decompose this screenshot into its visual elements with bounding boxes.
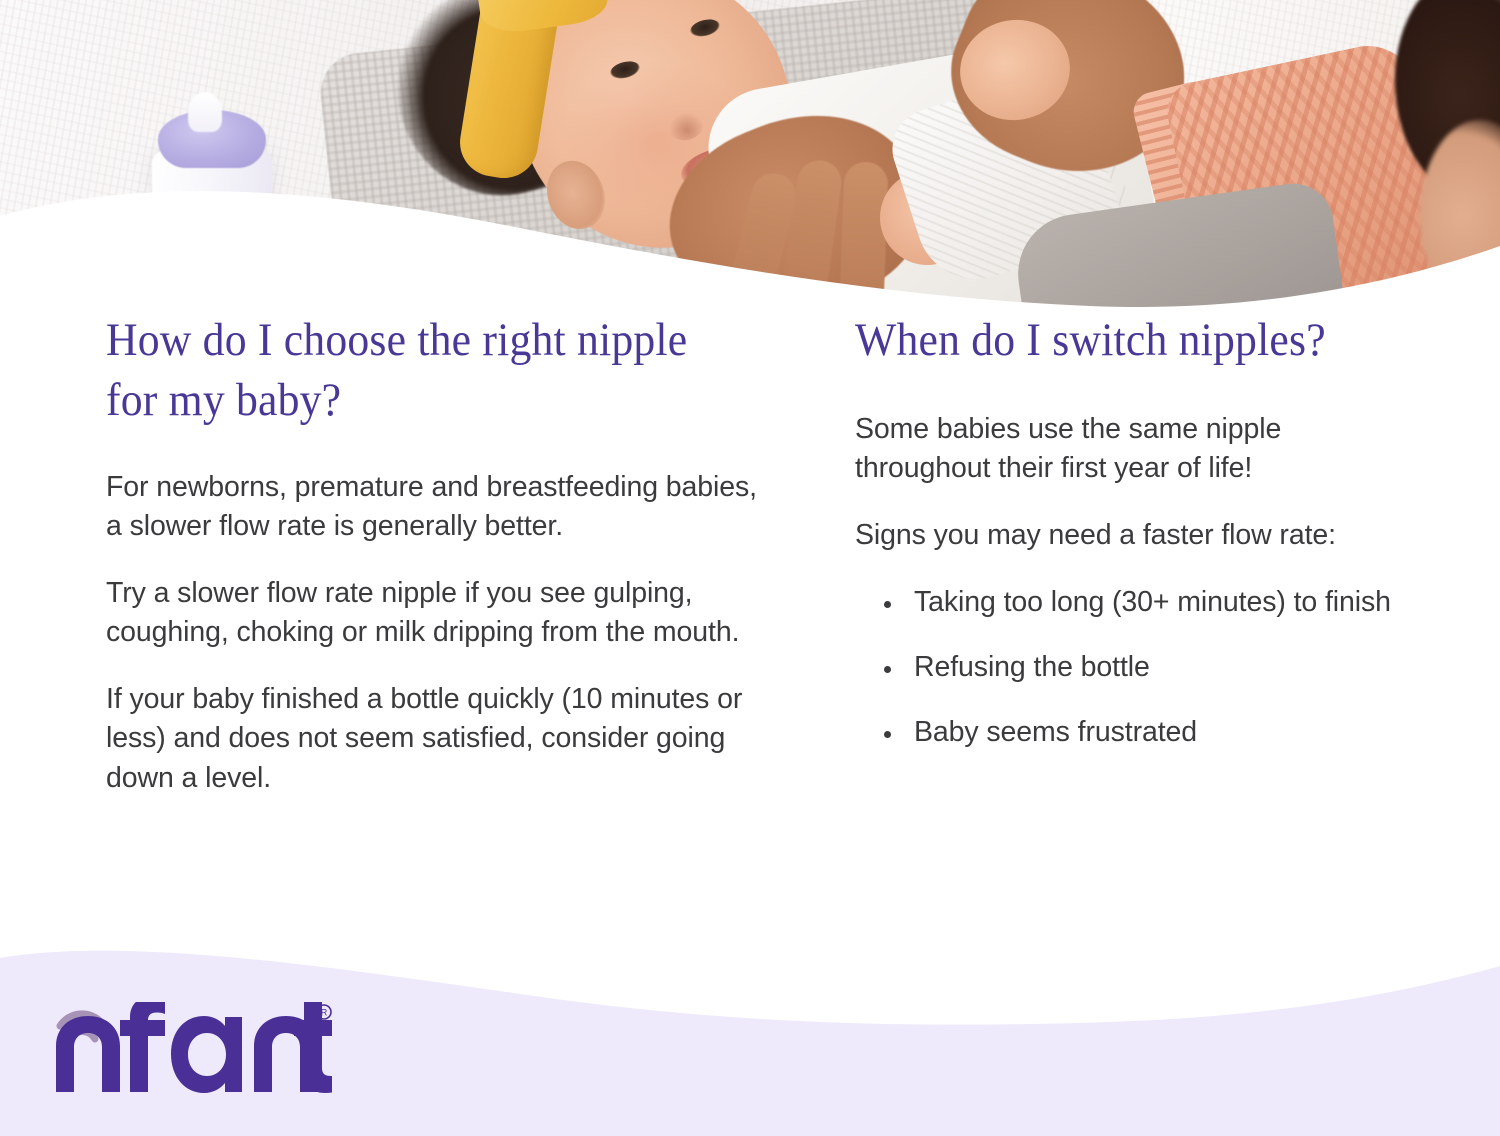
left-column-heading: How do I choose the right nipple for my … [106, 310, 720, 430]
left-paragraph-2: Try a slower flow rate nipple if you see… [106, 574, 766, 652]
caregiver-finger-3 [839, 161, 888, 310]
baby-bottle-label [228, 208, 262, 234]
left-paragraph-3: If your baby finished a bottle quickly (… [106, 680, 766, 797]
column-left: How do I choose the right nipple for my … [106, 310, 766, 798]
svg-text:R: R [321, 1008, 328, 1018]
list-item: Baby seems frustrated [881, 713, 1420, 752]
nfant-logo: R [52, 1002, 332, 1094]
list-item: Refusing the bottle [881, 648, 1420, 687]
nfant-logo-mark: R [52, 1002, 332, 1094]
baby-bottle-nipple [188, 92, 222, 132]
column-right: When do I switch nipples? Some babies us… [855, 310, 1420, 752]
right-column-heading: When do I switch nipples? [855, 310, 1380, 370]
hero-photo-image [0, 0, 1500, 310]
hero-photo-banner [0, 0, 1500, 310]
content-area: How do I choose the right nipple for my … [0, 310, 1500, 950]
left-paragraph-1: For newborns, premature and breastfeedin… [106, 468, 766, 546]
list-item: Taking too long (30+ minutes) to finish [881, 583, 1420, 622]
right-paragraph-2: Signs you may need a faster flow rate: [855, 516, 1420, 555]
right-paragraph-1: Some babies use the same nipple througho… [855, 410, 1420, 488]
faster-flow-signs-list: Taking too long (30+ minutes) to finish … [855, 583, 1420, 752]
